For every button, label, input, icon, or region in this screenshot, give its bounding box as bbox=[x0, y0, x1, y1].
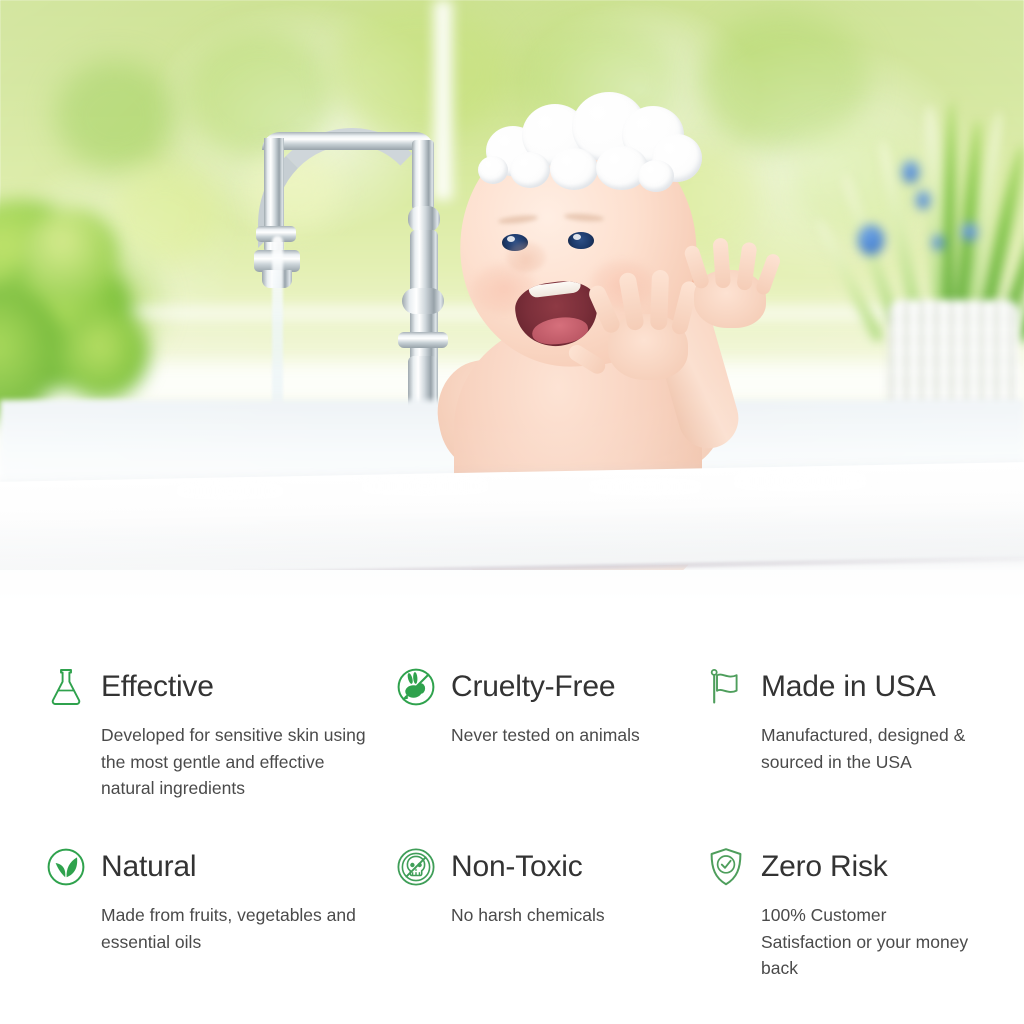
counter-front bbox=[0, 570, 1024, 640]
blue-flower bbox=[902, 161, 919, 183]
flask-icon bbox=[44, 665, 88, 709]
feature-cruelty-free: Cruelty-Free Never tested on animals bbox=[394, 662, 694, 838]
no-rabbit-icon bbox=[394, 665, 438, 709]
feature-title: Made in USA bbox=[761, 672, 936, 702]
feature-description: No harsh chemicals bbox=[451, 902, 694, 929]
foam-patch bbox=[700, 470, 900, 492]
blue-flower bbox=[916, 191, 930, 209]
feature-non-toxic: Non-Toxic No harsh chemicals bbox=[394, 842, 694, 1024]
feature-header: Effective bbox=[44, 662, 384, 712]
blue-flower bbox=[932, 235, 944, 250]
feature-zero-risk: Zero Risk 100% Customer Satisfaction or … bbox=[704, 842, 980, 1024]
baby bbox=[398, 92, 818, 522]
feature-natural: Natural Made from fruits, vegetables and… bbox=[44, 842, 384, 1024]
feature-header: Made in USA bbox=[704, 662, 980, 712]
baby-eye-right bbox=[568, 232, 594, 249]
herb-plant-left bbox=[0, 190, 194, 430]
feature-description: Manufactured, designed & sourced in the … bbox=[761, 722, 976, 775]
product-feature-page: Effective Developed for sensitive skin u… bbox=[0, 0, 1024, 1024]
blue-flower bbox=[858, 225, 884, 255]
soap-foam bbox=[456, 90, 704, 210]
feature-title: Natural bbox=[101, 852, 196, 882]
feature-description: Never tested on animals bbox=[451, 722, 694, 749]
feature-description: Made from fruits, vegetables and essenti… bbox=[101, 902, 371, 955]
shield-check-icon bbox=[704, 845, 748, 889]
feature-title: Zero Risk bbox=[761, 852, 888, 882]
features-grid: Effective Developed for sensitive skin u… bbox=[0, 640, 1024, 1024]
leaves-icon bbox=[44, 845, 88, 889]
feature-effective: Effective Developed for sensitive skin u… bbox=[44, 662, 384, 838]
feature-header: Cruelty-Free bbox=[394, 662, 694, 712]
feature-made-in-usa: Made in USA Manufactured, designed & sou… bbox=[704, 662, 980, 838]
feature-header: Natural bbox=[44, 842, 384, 892]
feature-header: Zero Risk bbox=[704, 842, 980, 892]
feature-title: Non-Toxic bbox=[451, 852, 583, 882]
blue-flower bbox=[962, 223, 977, 241]
feature-title: Cruelty-Free bbox=[451, 672, 615, 702]
feature-title: Effective bbox=[101, 672, 214, 702]
foam-patch bbox=[150, 482, 310, 500]
foam-patch bbox=[330, 476, 520, 496]
flag-icon bbox=[704, 665, 748, 709]
feature-header: Non-Toxic bbox=[394, 842, 694, 892]
hero-photo bbox=[0, 0, 1024, 640]
no-skull-icon bbox=[394, 845, 438, 889]
feature-description: Developed for sensitive skin using the m… bbox=[101, 722, 371, 802]
baby-hand-right bbox=[684, 242, 784, 334]
feature-description: 100% Customer Satisfaction or your money… bbox=[761, 902, 976, 982]
